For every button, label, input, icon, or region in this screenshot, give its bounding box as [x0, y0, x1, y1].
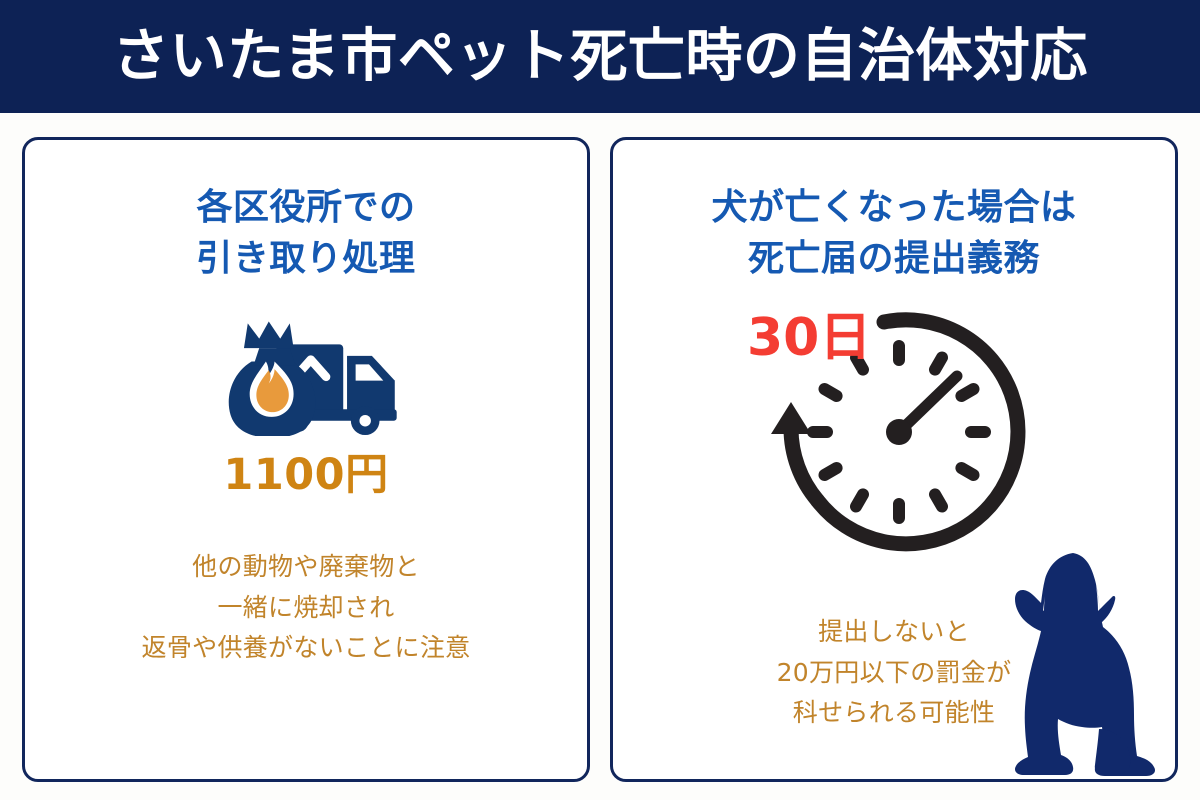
page-title: さいたま市ペット死亡時の自治体対応: [112, 28, 1088, 85]
card-title-ward-office: 各区役所での 引き取り処理: [196, 182, 415, 284]
sitting-dog-silhouette-icon: [1003, 547, 1171, 779]
right-card-media: 30日: [613, 294, 1175, 572]
garbage-truck-incineration-icon: [196, 308, 416, 438]
dog-notification-note: 提出しないと 20万円以下の罰金が 科せられる可能性: [777, 612, 1012, 734]
card-title-dog-notification: 犬が亡くなった場合は 死亡届の提出義務: [711, 182, 1076, 284]
card-dog-death-notification: 犬が亡くなった場合は 死亡届の提出義務: [610, 137, 1178, 782]
ward-office-note: 他の動物や廃棄物と 一緒に焼却され 返骨や供養がないことに注意: [142, 547, 471, 669]
clock-deadline-icon: 30日: [729, 294, 1059, 566]
cards-row: 各区役所での 引き取り処理: [0, 113, 1200, 800]
left-card-media: 1100円: [196, 308, 416, 497]
deadline-badge: 30日: [747, 312, 871, 364]
card-ward-office-collection: 各区役所での 引き取り処理: [22, 137, 590, 782]
header-banner: さいたま市ペット死亡時の自治体対応: [0, 0, 1200, 113]
infographic-root: さいたま市ペット死亡時の自治体対応 各区役所での 引き取り処理: [0, 0, 1200, 800]
fee-amount: 1100円: [223, 454, 388, 497]
